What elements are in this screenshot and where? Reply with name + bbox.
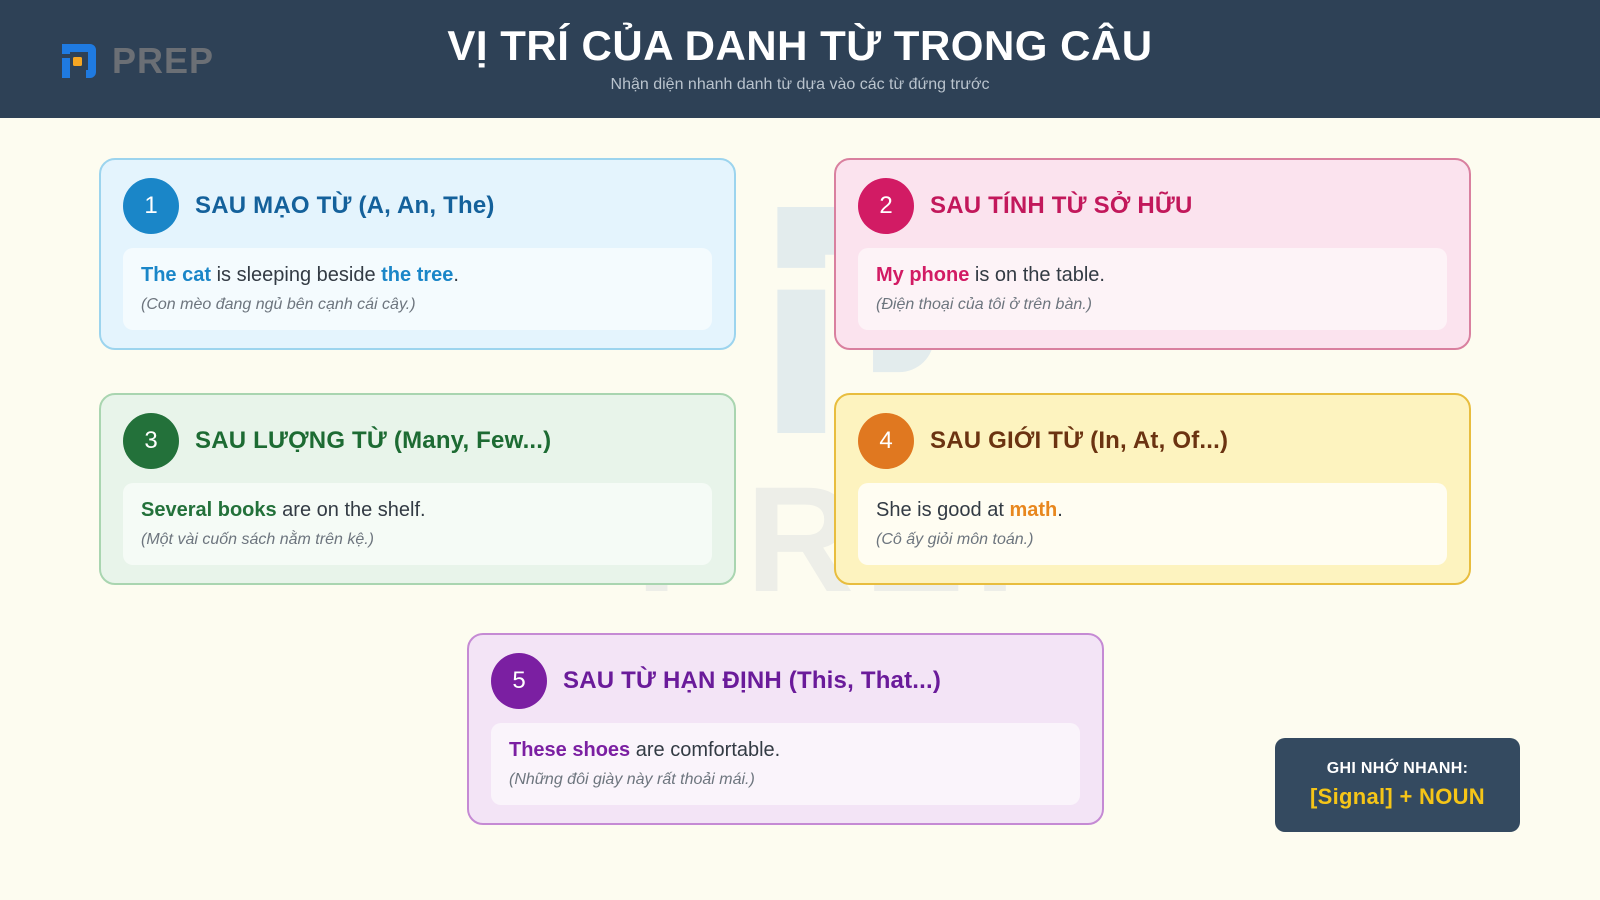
example-box: Several books are on the shelf. (Một vài… [123,483,712,565]
memo-formula: [Signal] + NOUN [1310,784,1485,810]
card-title: SAU MẠO TỪ (A, An, The) [195,192,495,220]
example-plain-text: is sleeping beside [211,264,381,286]
page-subtitle: Nhận diện nhanh danh từ dựa vào các từ đ… [611,76,990,94]
example-vietnamese: (Một vài cuốn sách nằm trên kệ.) [141,531,694,549]
header-bar: PREP VỊ TRÍ CỦA DANH TỪ TRONG CÂU Nhận d… [0,0,1600,118]
example-plain-text: is on the table. [969,264,1105,286]
example-plain-text: . [453,264,459,286]
example-plain-text: are comfortable. [630,739,780,761]
example-box: My phone is on the table. (Điện thoại củ… [858,248,1447,330]
example-noun-phrase: math [1009,499,1057,521]
example-vietnamese: (Những đôi giày này rất thoải mái.) [509,771,1062,789]
card-header: 4 SAU GIỚI TỪ (In, At, Of...) [858,413,1447,469]
rule-card-2[interactable]: 2 SAU TÍNH TỪ SỞ HỮU My phone is on the … [834,158,1471,350]
example-noun-phrase: These shoes [509,739,630,761]
example-box: She is good at math. (Cô ấy giỏi môn toá… [858,483,1447,565]
card-number-badge: 5 [491,653,547,709]
card-header: 2 SAU TÍNH TỪ SỞ HỮU [858,178,1447,234]
example-box: These shoes are comfortable. (Những đôi … [491,723,1080,805]
header-titles: VỊ TRÍ CỦA DANH TỪ TRONG CÂU Nhận diện n… [0,0,1600,118]
card-title: SAU TÍNH TỪ SỞ HỮU [930,192,1193,220]
example-vietnamese: (Con mèo đang ngủ bên cạnh cái cây.) [141,296,694,314]
example-english: These shoes are comfortable. [509,737,1062,764]
card-title: SAU TỪ HẠN ĐỊNH (This, That...) [563,667,941,695]
card-number-badge: 3 [123,413,179,469]
page-title: VỊ TRÍ CỦA DANH TỪ TRONG CÂU [447,24,1152,68]
example-box: The cat is sleeping beside the tree. (Co… [123,248,712,330]
example-noun-phrase: The cat [141,264,211,286]
example-plain-text: are on the shelf. [277,499,426,521]
example-noun-phrase: My phone [876,264,969,286]
example-english: The cat is sleeping beside the tree. [141,262,694,289]
card-header: 5 SAU TỪ HẠN ĐỊNH (This, That...) [491,653,1080,709]
memo-label: GHI NHỚ NHANH: [1327,760,1468,778]
card-title: SAU GIỚI TỪ (In, At, Of...) [930,427,1228,455]
example-vietnamese: (Cô ấy giỏi môn toán.) [876,531,1429,549]
example-noun-phrase: the tree [381,264,453,286]
card-title: SAU LƯỢNG TỪ (Many, Few...) [195,427,551,455]
card-header: 3 SAU LƯỢNG TỪ (Many, Few...) [123,413,712,469]
example-noun-phrase: Several books [141,499,277,521]
example-plain-text: . [1057,499,1063,521]
example-english: Several books are on the shelf. [141,497,694,524]
card-number-badge: 2 [858,178,914,234]
rule-card-5[interactable]: 5 SAU TỪ HẠN ĐỊNH (This, That...) These … [467,633,1104,825]
example-plain-text: She is good at [876,499,1009,521]
example-vietnamese: (Điện thoại của tôi ở trên bàn.) [876,296,1429,314]
card-header: 1 SAU MẠO TỪ (A, An, The) [123,178,712,234]
rule-card-4[interactable]: 4 SAU GIỚI TỪ (In, At, Of...) She is goo… [834,393,1471,585]
card-number-badge: 4 [858,413,914,469]
rule-card-1[interactable]: 1 SAU MẠO TỪ (A, An, The) The cat is sle… [99,158,736,350]
example-english: My phone is on the table. [876,262,1429,289]
example-english: She is good at math. [876,497,1429,524]
infographic-root: PREP VỊ TRÍ CỦA DANH TỪ TRONG CÂU Nhận d… [0,0,1600,900]
rule-card-3[interactable]: 3 SAU LƯỢNG TỪ (Many, Few...) Several bo… [99,393,736,585]
card-number-badge: 1 [123,178,179,234]
quick-memo-badge: GHI NHỚ NHANH: [Signal] + NOUN [1275,738,1520,832]
